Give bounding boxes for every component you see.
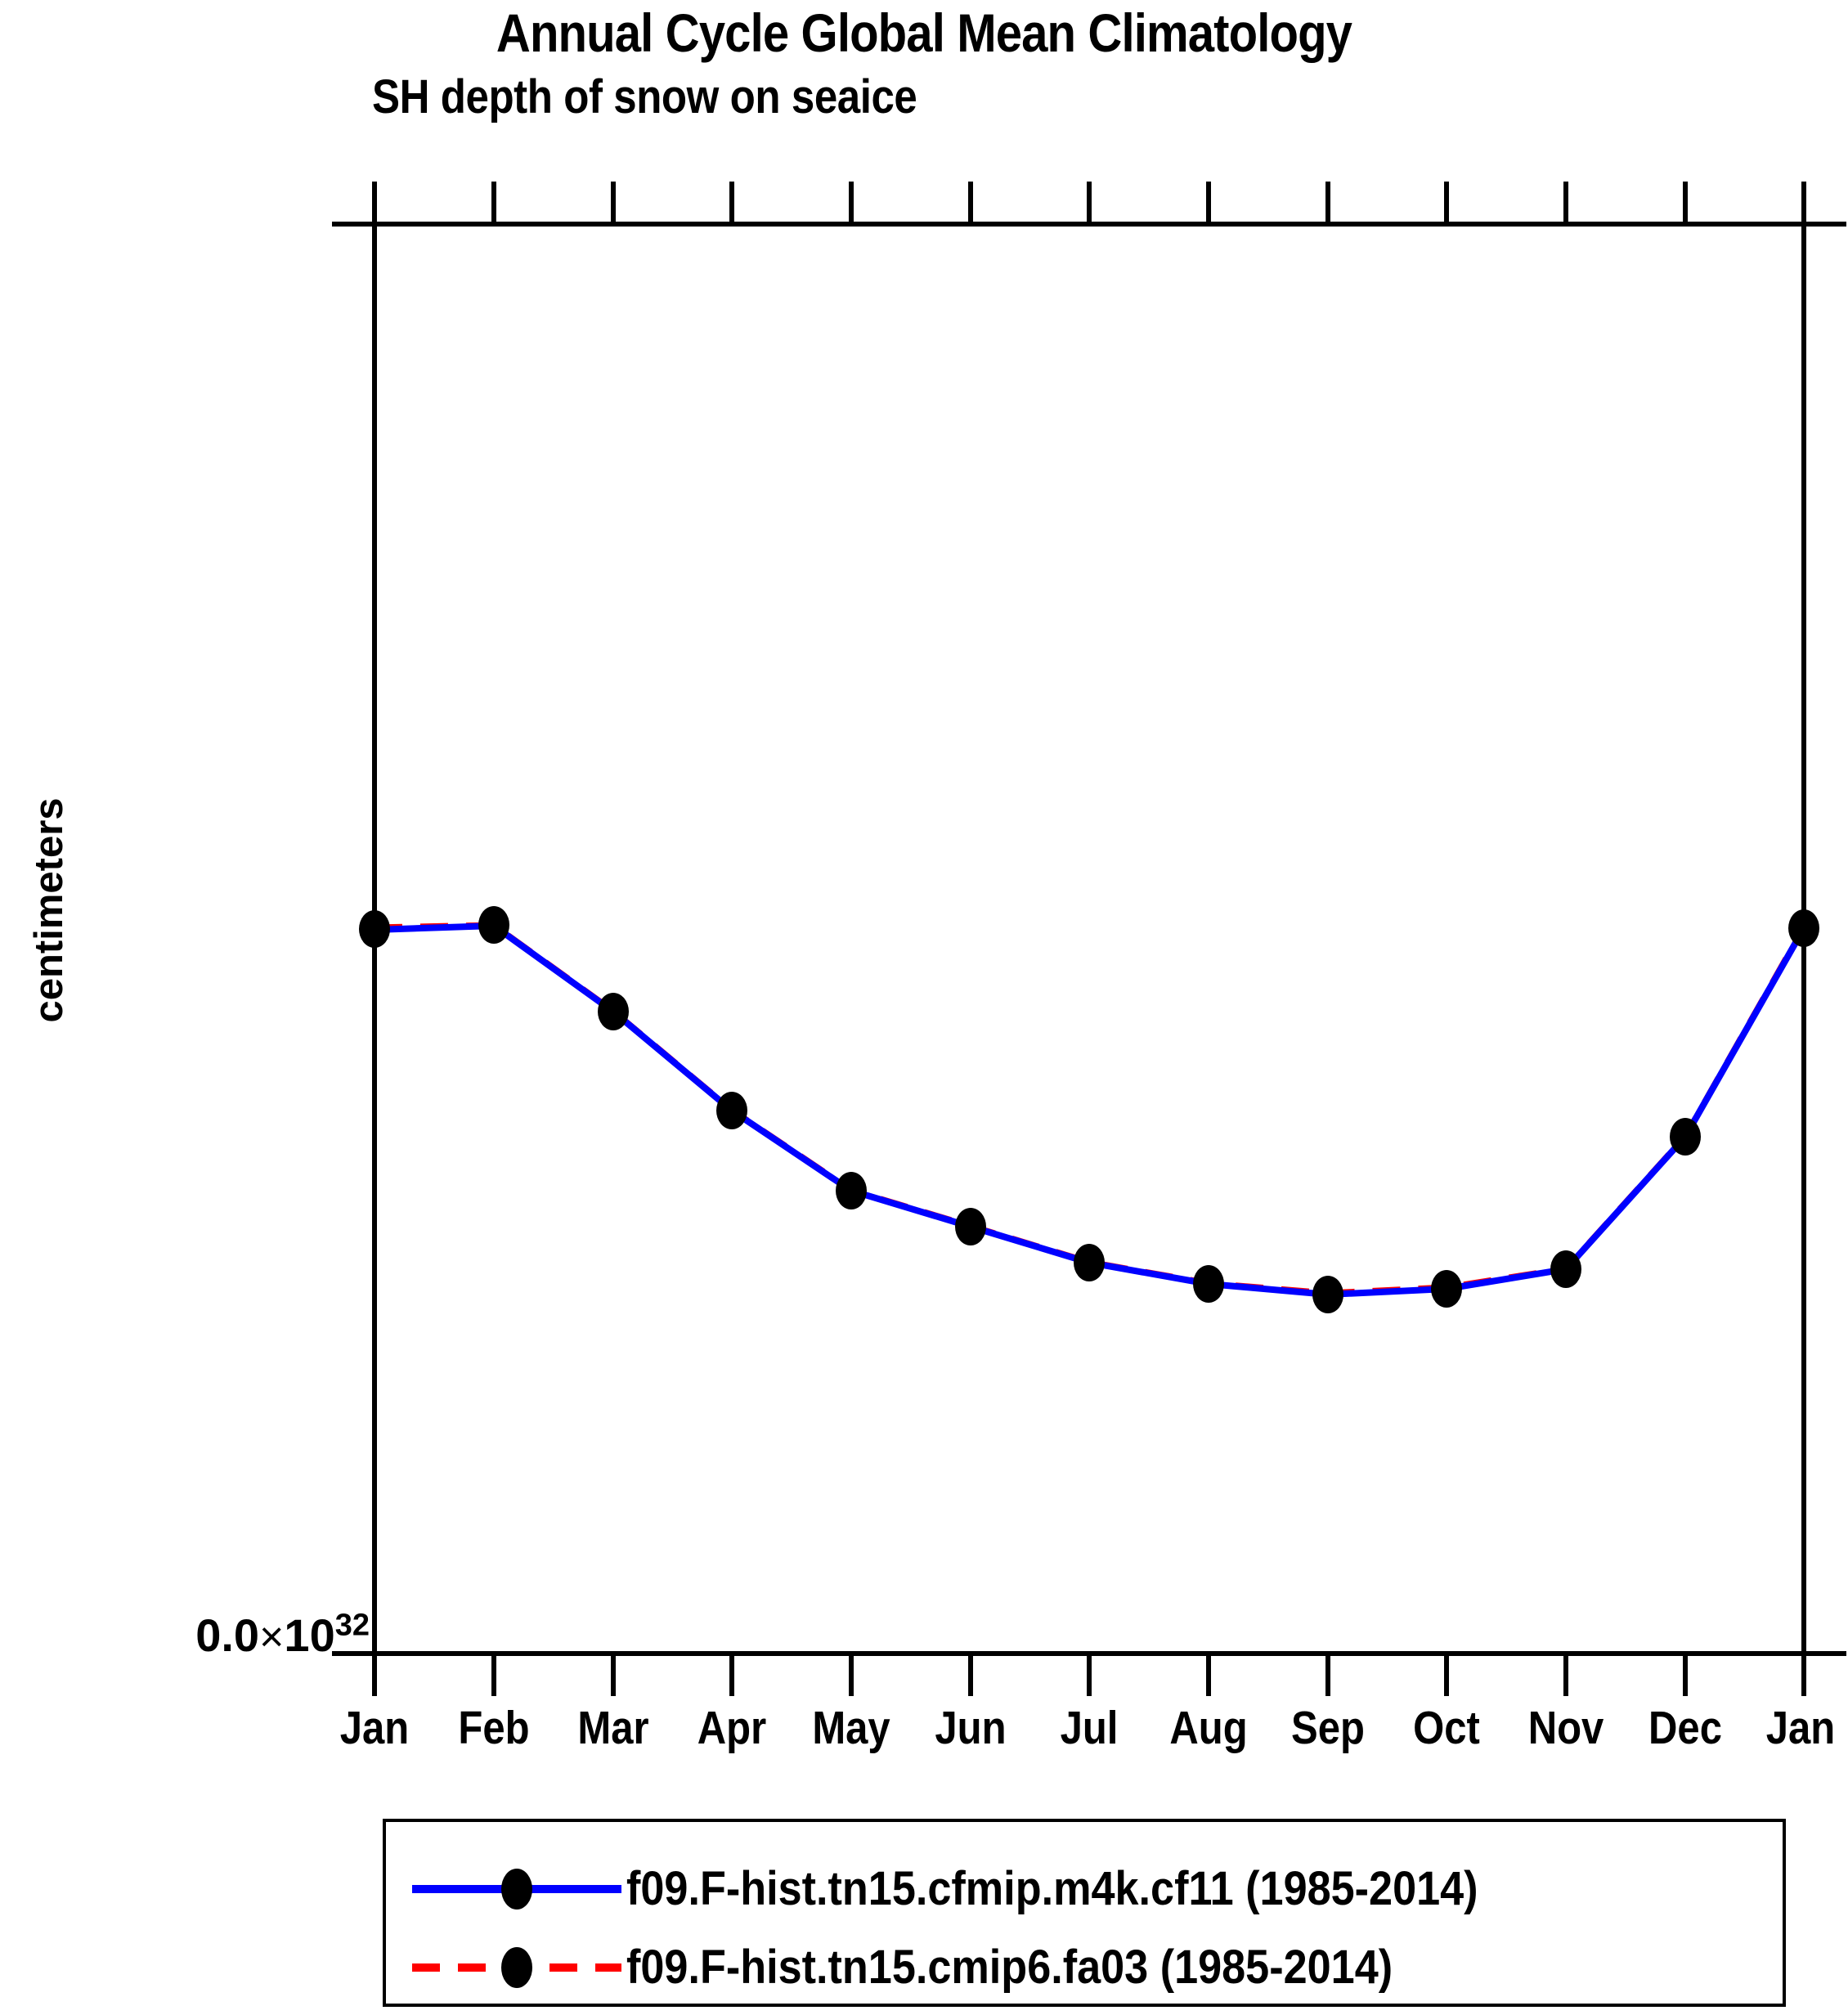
data-point-marker	[359, 910, 390, 948]
data-point-marker	[1670, 1118, 1701, 1156]
series-line-cmip6-fa03	[375, 925, 1804, 1293]
legend-item-cmip6-fa03[interactable]: f09.F-hist.tn15.cmip6.fa03 (1985-2014)	[386, 1935, 1783, 2000]
data-point-marker	[478, 906, 509, 944]
x-tick-label-nov: Nov	[1528, 1701, 1604, 1755]
series-markers	[359, 906, 1819, 1313]
data-point-marker	[716, 1092, 747, 1129]
axis-frame	[375, 224, 1804, 1654]
data-point-marker	[1788, 909, 1819, 947]
data-point-marker	[1074, 1244, 1105, 1281]
x-tick-label-oct: Oct	[1413, 1701, 1480, 1755]
data-point-marker	[955, 1208, 986, 1245]
legend-sample-line-solid-blue	[407, 1856, 626, 1922]
data-point-marker	[1312, 1276, 1343, 1313]
legend: f09.F-hist.tn15.cfmip.m4k.cf11 (1985-201…	[383, 1819, 1786, 2007]
x-tick-label-jan-end: Jan	[1766, 1701, 1835, 1755]
x-tick-label-feb: Feb	[458, 1701, 529, 1755]
x-tick-label-sep: Sep	[1291, 1701, 1365, 1755]
axis-ticks	[332, 182, 1846, 1696]
data-point-marker	[1550, 1250, 1581, 1288]
data-point-marker	[836, 1172, 867, 1209]
legend-sample-line-dashed-red	[407, 1935, 626, 2000]
x-tick-label-aug: Aug	[1169, 1701, 1247, 1755]
x-tick-label-dec: Dec	[1648, 1701, 1722, 1755]
x-tick-label-jun: Jun	[935, 1701, 1006, 1755]
x-tick-label-may: May	[812, 1701, 890, 1755]
data-point-marker	[598, 993, 629, 1030]
legend-label: f09.F-hist.tn15.cmip6.fa03 (1985-2014)	[626, 1936, 1393, 1999]
legend-label: f09.F-hist.tn15.cfmip.m4k.cf11 (1985-201…	[626, 1858, 1478, 1920]
data-point-marker	[1193, 1265, 1224, 1303]
series-line-cfmip-m4k-cf11	[375, 926, 1804, 1295]
x-tick-label-apr: Apr	[697, 1701, 766, 1755]
legend-item-cfmip-m4k-cf11[interactable]: f09.F-hist.tn15.cfmip.m4k.cf11 (1985-201…	[386, 1856, 1783, 1922]
x-tick-label-jul: Jul	[1061, 1701, 1119, 1755]
data-point-marker	[1431, 1270, 1462, 1308]
x-tick-label-mar: Mar	[577, 1701, 648, 1755]
x-tick-label-jan-start: Jan	[340, 1701, 409, 1755]
